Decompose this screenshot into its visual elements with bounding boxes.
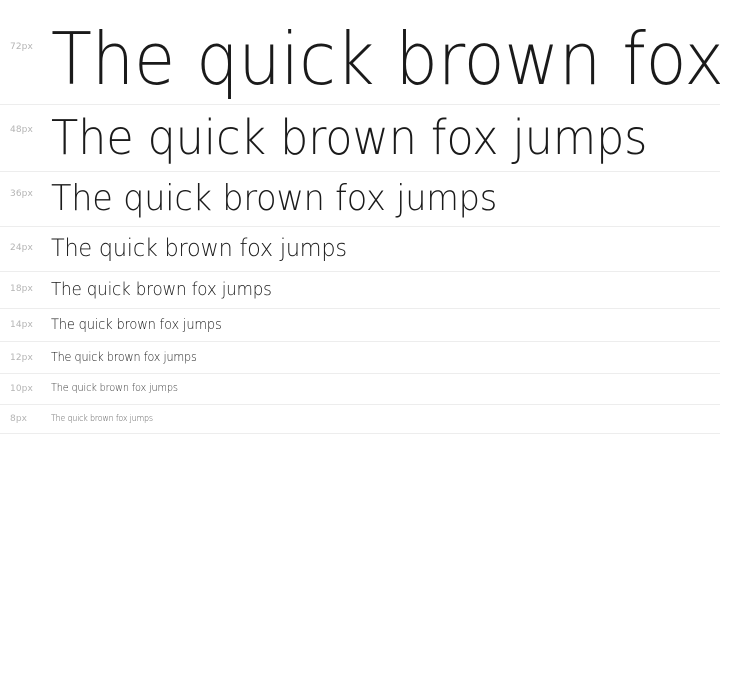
specimen-row: 18px The quick brown fox jumps — [0, 272, 720, 309]
sample-text: The quick brown fox jumps — [51, 21, 720, 97]
specimen-row: 24px The quick brown fox jumps — [0, 227, 720, 272]
size-label: 18px — [0, 285, 51, 308]
size-label: 24px — [0, 244, 51, 271]
size-label: 72px — [0, 43, 51, 104]
font-size-specimen-table: 72px The quick brown fox jumps 48px The … — [0, 0, 730, 434]
specimen-row: 72px The quick brown fox jumps — [0, 14, 720, 105]
sample-text: The quick brown fox jumps — [51, 280, 673, 299]
sample-text: The quick brown fox jumps — [51, 180, 673, 218]
size-label: 36px — [0, 190, 51, 226]
specimen-row: 8px The quick brown fox jumps — [0, 405, 720, 434]
specimen-row: 36px The quick brown fox jumps — [0, 172, 720, 227]
size-label: 10px — [0, 385, 51, 404]
specimen-row: 12px The quick brown fox jumps — [0, 342, 720, 374]
size-label: 14px — [0, 321, 51, 341]
size-label: 48px — [0, 126, 51, 171]
sample-text: The quick brown fox jumps — [51, 415, 673, 424]
empty-page-area — [0, 434, 730, 694]
specimen-row: 10px The quick brown fox jumps — [0, 374, 720, 405]
specimen-row: 48px The quick brown fox jumps — [0, 105, 720, 172]
size-label: 12px — [0, 354, 51, 373]
size-label: 8px — [0, 415, 51, 433]
sample-text: The quick brown fox jumps — [51, 318, 673, 333]
sample-text: The quick brown fox jumps — [51, 383, 673, 394]
sample-text: The quick brown fox jumps — [51, 113, 673, 164]
sample-text: The quick brown fox jumps — [51, 236, 673, 261]
sample-text: The quick brown fox jumps — [51, 351, 673, 364]
specimen-row: 14px The quick brown fox jumps — [0, 309, 720, 342]
